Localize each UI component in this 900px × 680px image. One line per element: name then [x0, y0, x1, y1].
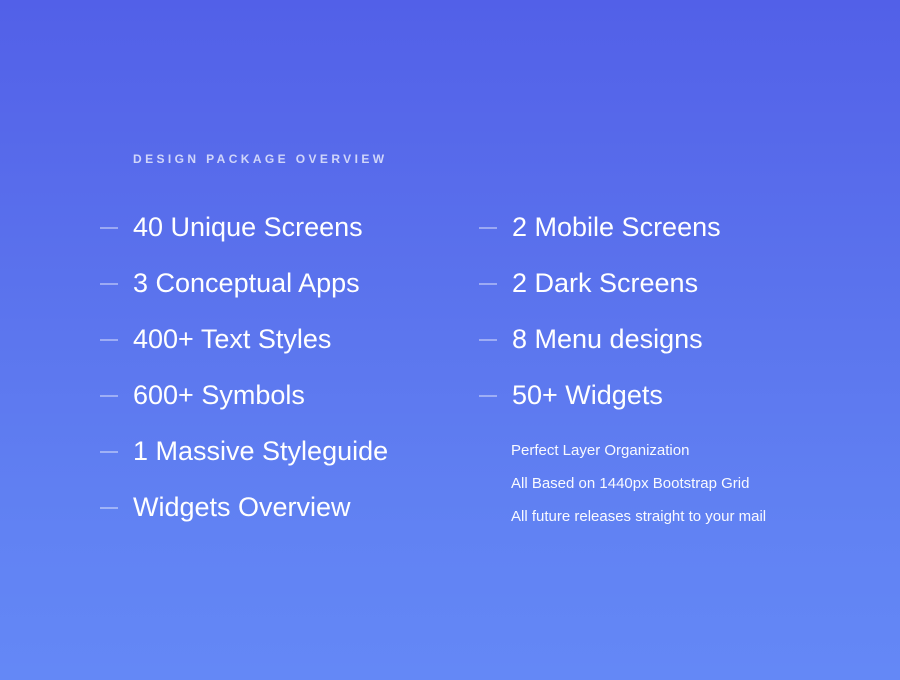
list-item: 2 Dark Screens: [479, 256, 721, 312]
list-item: 400+ Text Styles: [100, 312, 388, 368]
dash-icon: [479, 227, 497, 229]
list-item: 600+ Symbols: [100, 368, 388, 424]
dash-icon: [100, 507, 118, 509]
footnote-list: Perfect Layer Organization All Based on …: [511, 434, 766, 533]
list-item: 8 Menu designs: [479, 312, 721, 368]
left-feature-list: 40 Unique Screens 3 Conceptual Apps 400+…: [100, 200, 388, 536]
list-item: 40 Unique Screens: [100, 200, 388, 256]
feature-label: 50+ Widgets: [512, 381, 663, 411]
section-eyebrow: Design Package Overview: [133, 152, 387, 166]
dash-icon: [479, 283, 497, 285]
feature-label: 600+ Symbols: [133, 381, 305, 411]
right-feature-column: 2 Mobile Screens 2 Dark Screens 8 Menu d…: [479, 200, 721, 424]
feature-label: 2 Mobile Screens: [512, 213, 721, 243]
feature-label: Widgets Overview: [133, 493, 351, 523]
feature-label: 40 Unique Screens: [133, 213, 363, 243]
dash-icon: [100, 395, 118, 397]
dash-icon: [100, 283, 118, 285]
footnote-item: All future releases straight to your mai…: [511, 500, 766, 533]
feature-label: 8 Menu designs: [512, 325, 703, 355]
feature-label: 3 Conceptual Apps: [133, 269, 360, 299]
right-feature-list: 2 Mobile Screens 2 Dark Screens 8 Menu d…: [479, 200, 721, 424]
feature-label: 2 Dark Screens: [512, 269, 698, 299]
dash-icon: [479, 395, 497, 397]
dash-icon: [100, 227, 118, 229]
footnote-item: Perfect Layer Organization: [511, 434, 766, 467]
list-item: Widgets Overview: [100, 480, 388, 536]
feature-label: 1 Massive Styleguide: [133, 437, 388, 467]
list-item: 3 Conceptual Apps: [100, 256, 388, 312]
left-feature-column: 40 Unique Screens 3 Conceptual Apps 400+…: [100, 200, 388, 536]
slide-canvas: Design Package Overview 40 Unique Screen…: [0, 0, 900, 680]
list-item: 50+ Widgets: [479, 368, 721, 424]
footnote-item: All Based on 1440px Bootstrap Grid: [511, 467, 766, 500]
dash-icon: [100, 451, 118, 453]
list-item: 2 Mobile Screens: [479, 200, 721, 256]
list-item: 1 Massive Styleguide: [100, 424, 388, 480]
feature-label: 400+ Text Styles: [133, 325, 331, 355]
dash-icon: [479, 339, 497, 341]
dash-icon: [100, 339, 118, 341]
